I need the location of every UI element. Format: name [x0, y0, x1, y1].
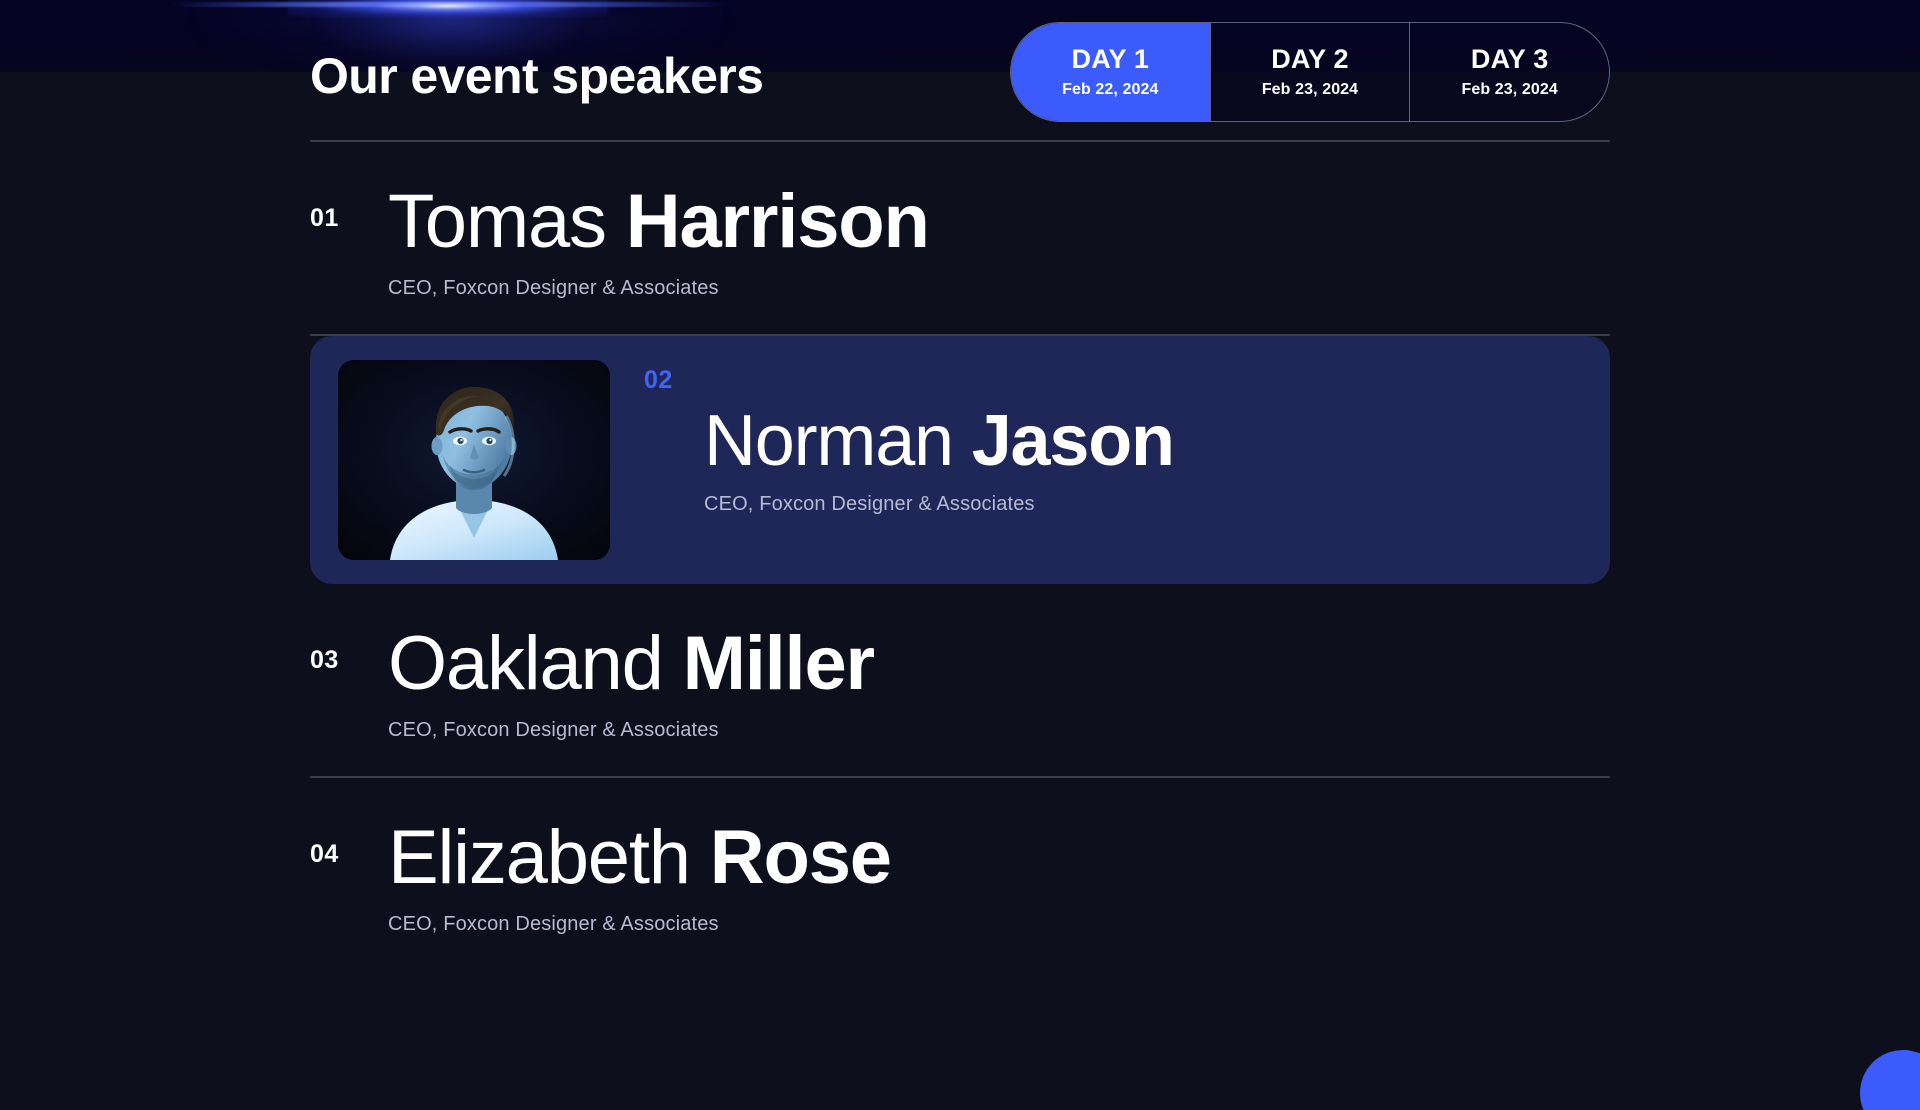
speaker-row[interactable]: 03 Oakland Miller CEO, Foxcon Designer &… — [310, 584, 1610, 776]
chat-bubble-icon[interactable] — [1860, 1050, 1920, 1110]
speaker-row-featured[interactable]: 02 Norman Jason CEO, Foxcon Designer & A… — [310, 336, 1610, 584]
speaker-last-name: Rose — [710, 815, 891, 900]
day-tabs-group: DAY 1 Feb 22, 2024 DAY 2 Feb 23, 2024 DA… — [1010, 22, 1610, 122]
speaker-role: CEO, Foxcon Designer & Associates — [388, 719, 1610, 742]
speaker-row[interactable]: 01 Tomas Harrison CEO, Foxcon Designer &… — [310, 142, 1610, 334]
speaker-info: Norman Jason CEO, Foxcon Designer & Asso… — [704, 404, 1582, 516]
speaker-last-name: Miller — [683, 621, 874, 706]
speaker-number: 04 — [310, 840, 388, 869]
speaker-row[interactable]: 04 Elizabeth Rose CEO, Foxcon Designer &… — [310, 778, 1610, 970]
speaker-name: Tomas Harrison — [388, 182, 1610, 261]
tab-day-3[interactable]: DAY 3 Feb 23, 2024 — [1409, 23, 1609, 121]
speaker-info: Tomas Harrison CEO, Foxcon Designer & As… — [388, 182, 1610, 300]
speaker-number: 01 — [310, 204, 388, 233]
tab-day-1-date: Feb 22, 2024 — [1062, 81, 1158, 99]
tab-day-2-date: Feb 23, 2024 — [1262, 81, 1358, 99]
speaker-name: Elizabeth Rose — [388, 818, 1610, 897]
speaker-first-name: Tomas — [388, 179, 606, 264]
speaker-last-name: Jason — [972, 401, 1174, 481]
speaker-number: 03 — [310, 646, 388, 675]
speaker-info: Elizabeth Rose CEO, Foxcon Designer & As… — [388, 818, 1610, 936]
portrait-illustration — [338, 360, 610, 560]
speaker-number: 02 — [644, 366, 704, 395]
tab-day-2-label: DAY 2 — [1271, 45, 1349, 73]
speaker-avatar — [338, 360, 610, 560]
speaker-first-name: Norman — [704, 401, 953, 481]
speaker-name: Oakland Miller — [388, 624, 1610, 703]
speaker-first-name: Elizabeth — [388, 815, 690, 900]
tab-day-1[interactable]: DAY 1 Feb 22, 2024 — [1011, 23, 1210, 121]
speaker-name: Norman Jason — [704, 404, 1582, 479]
speaker-last-name: Harrison — [626, 179, 929, 264]
page-title: Our event speakers — [310, 47, 763, 105]
page-header: Our event speakers DAY 1 Feb 22, 2024 DA… — [0, 0, 1920, 140]
speaker-role: CEO, Foxcon Designer & Associates — [388, 277, 1610, 300]
speaker-role: CEO, Foxcon Designer & Associates — [704, 493, 1582, 516]
tab-day-3-label: DAY 3 — [1471, 45, 1549, 73]
tab-day-2[interactable]: DAY 2 Feb 23, 2024 — [1210, 23, 1410, 121]
speaker-info: Oakland Miller CEO, Foxcon Designer & As… — [388, 624, 1610, 742]
speakers-list: 01 Tomas Harrison CEO, Foxcon Designer &… — [0, 140, 1920, 970]
tab-day-3-date: Feb 23, 2024 — [1461, 81, 1557, 99]
tab-day-1-label: DAY 1 — [1072, 45, 1150, 73]
speaker-first-name: Oakland — [388, 621, 663, 706]
speaker-role: CEO, Foxcon Designer & Associates — [388, 913, 1610, 936]
